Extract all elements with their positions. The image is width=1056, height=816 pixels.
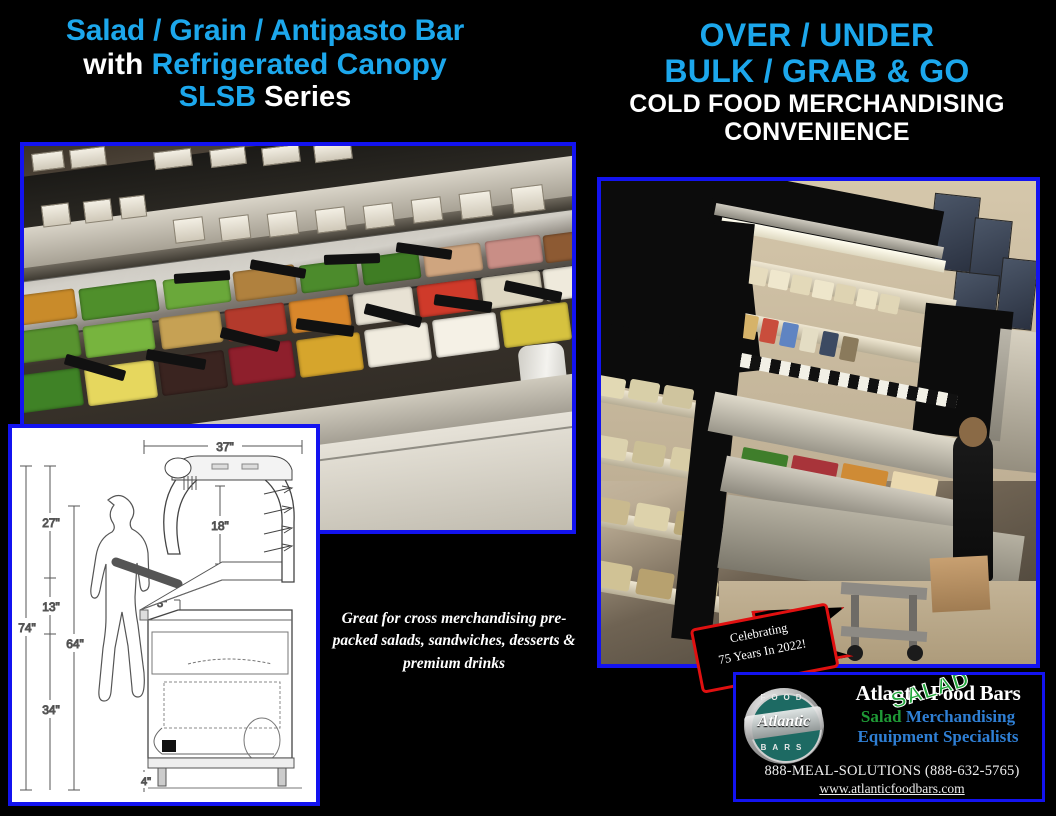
dimension-drawing-panel: 37" 74" 27" 13" [8,424,320,806]
ingredient-label [119,194,147,219]
shelf-tag [31,150,65,172]
left-heading-line2: with Refrigerated Canopy [0,48,530,82]
right-heading-line3: COLD FOOD MERCHANDISING [578,90,1056,119]
packaged-item [597,560,633,592]
cart-leg [851,595,859,647]
left-heading-line1: Salad / Grain / Antipasto Bar [0,14,530,48]
dim-canopy-height: 27" [42,516,60,530]
food-pan [432,312,500,358]
brand-tagline-merch: Merchandising [906,707,1015,726]
food-pan [364,322,432,368]
brand-name: Atlantic Food Bars SALAD [834,681,1042,706]
packaged-item [767,269,790,290]
right-heading-block: OVER / UNDER BULK / GRAB & GO COLD FOOD … [578,18,1056,147]
brand-tagline-line1: Salad Merchandising [834,707,1042,727]
packaged-item [811,279,834,300]
slide-canvas: Salad / Grain / Antipasto Bar with Refri… [0,0,1056,816]
brand-text-block: Atlantic Food Bars SALAD Salad Merchandi… [834,681,1042,747]
contact-phone[interactable]: 888-MEAL-SOLUTIONS (888-632-5765) [736,763,1045,780]
ingredient-label [411,196,444,223]
atlantic-roundel-icon: FOOD Atlantic BARS [741,685,827,767]
over-under-photo-art [601,181,1036,664]
serving-tong [324,253,380,265]
emblem-bottom-text: BARS [751,743,817,752]
packaged-item [855,288,878,309]
left-heading-block: Salad / Grain / Antipasto Bar with Refri… [0,14,530,114]
dim-width-overall: 37" [216,440,234,454]
contact-website-link[interactable]: www.atlanticfoodbars.com [736,781,1045,797]
ingredient-label [315,206,348,233]
food-pan [296,332,364,378]
contact-block: 888-MEAL-SOLUTIONS (888-632-5765) www.at… [736,763,1045,797]
packaged-item [597,434,629,461]
food-pan [158,310,224,350]
dim-canopy-opening: 18" [211,519,229,533]
packaged-item [877,293,900,314]
ingredient-label [459,190,494,220]
food-pan [500,302,572,349]
left-heading-line2-with: with [83,48,151,81]
dim-base-height: 34" [42,703,60,717]
left-heading-series-code: SLSB [179,81,256,113]
dim-total-height: 74" [18,621,36,635]
company-logo-panel: FOOD Atlantic BARS Atlantic Food Bars SA… [733,672,1045,802]
packaged-item [833,283,856,304]
dim-leg-height: 4" [141,776,151,788]
dimension-drawing: 37" 74" 27" 13" [12,428,316,802]
dim-upper-band: 13" [42,600,60,614]
marketing-caption: Great for cross merchandising pre-packed… [325,608,583,675]
ingredient-label [363,202,396,229]
food-pan [20,367,84,414]
brand-tagline-line2: Equipment Specialists [834,727,1042,747]
right-heading-line2: BULK / GRAB & GO [578,54,1056,90]
ingredient-label [219,214,252,241]
right-heading-line4: CONVENIENCE [578,118,1056,147]
ingredient-label [173,216,206,243]
ingredient-label [267,210,300,237]
emblem-top-text: FOOD [751,693,817,702]
left-heading-line3: SLSB Series [0,81,530,113]
ingredient-label [83,198,113,223]
right-heading-line1: OVER / UNDER [578,18,1056,54]
ingredient-label [511,184,546,214]
left-heading-series-word: Series [256,81,351,113]
cardboard-box [930,556,991,613]
packaged-item [597,496,631,526]
cart-caster [907,645,923,661]
packaged-item [597,375,627,400]
shopper-head [959,417,987,447]
packaged-item [789,274,812,295]
dim-work-height: 64" [66,637,84,651]
ingredient-label [41,202,71,227]
left-heading-line2-canopy: Refrigerated Canopy [152,48,447,81]
emblem-script-text: Atlantic [749,713,819,731]
